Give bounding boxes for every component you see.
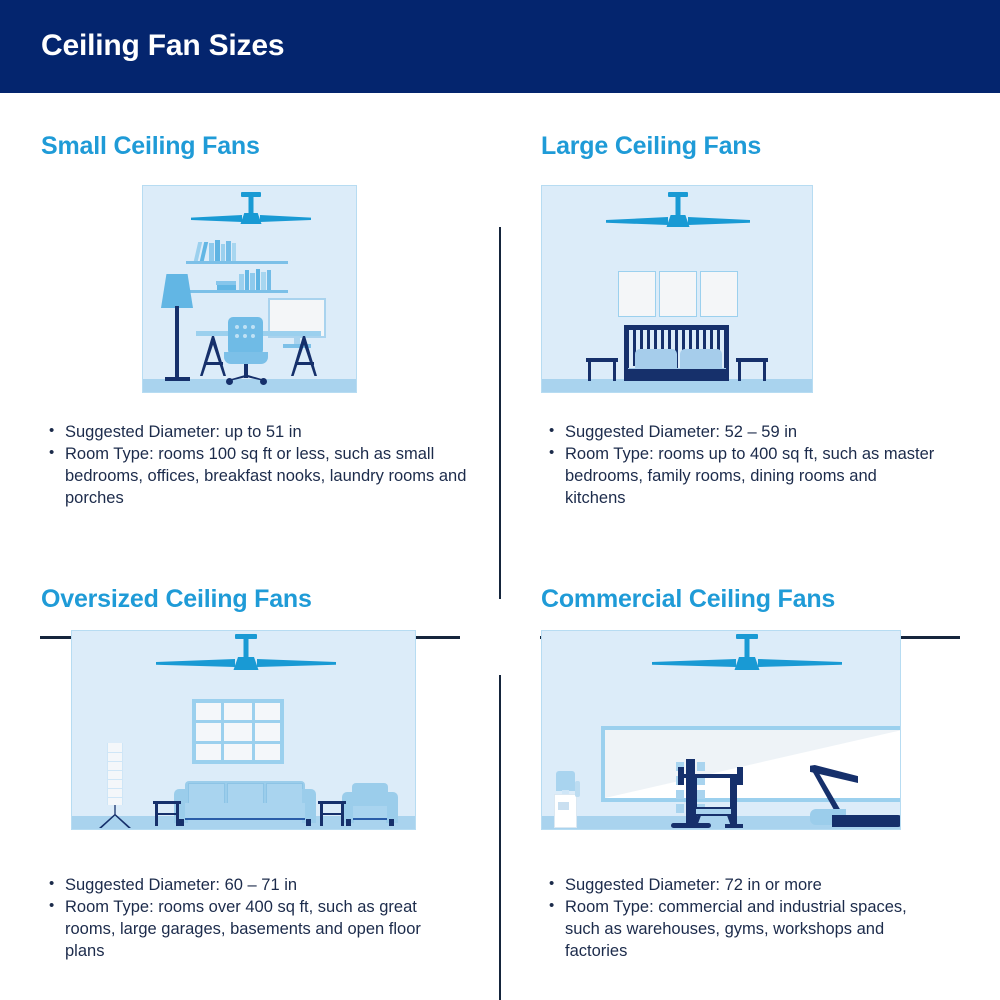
fan-blade-left	[606, 217, 668, 225]
bookshelf-lower	[186, 290, 288, 293]
book	[239, 274, 244, 290]
water-cooler-spout	[575, 781, 580, 797]
window-mullion-vertical	[221, 703, 224, 760]
dumbbell	[697, 790, 705, 799]
chair-back-dot	[235, 334, 239, 338]
book	[245, 270, 249, 290]
fan-blade-right	[260, 215, 311, 222]
book	[215, 240, 220, 261]
tripod-lamp-shade-line	[107, 761, 123, 762]
fan-blade-right	[758, 659, 842, 667]
ceiling-fan-icon	[606, 192, 750, 230]
floor-lamp-shade	[161, 274, 193, 308]
fan-blade-left	[191, 215, 242, 222]
dumbbell	[676, 790, 684, 799]
section-title-large: Large Ceiling Fans	[541, 132, 761, 161]
bullet-list-large: Suggested Diameter: 52 – 59 in Room Type…	[541, 421, 941, 509]
list-item: Suggested Diameter: 72 in or more	[541, 874, 921, 896]
illustration-home-office	[142, 185, 357, 393]
tripod-lamp-shade-line	[107, 797, 123, 798]
side-table-right-leg	[320, 804, 323, 826]
tripod-lamp-shade-line	[107, 752, 123, 753]
book	[221, 244, 225, 261]
chair-back-dot	[243, 334, 247, 338]
side-table-left-leg	[176, 804, 179, 826]
tripod-lamp-shade-line	[107, 788, 123, 789]
chair-back-dot	[251, 325, 255, 329]
illustration-bedroom	[541, 185, 813, 393]
wall-picture-frame	[618, 271, 656, 317]
fan-blade-left	[652, 659, 736, 667]
water-cooler-bottle	[556, 771, 575, 791]
nightstand-right-leg	[763, 362, 766, 381]
chair-wheel	[226, 378, 233, 385]
tripod-lamp-shade-line	[107, 779, 123, 780]
window-mullion-vertical	[252, 703, 255, 760]
sofa-leg	[306, 819, 311, 826]
bed-frame-bottom	[626, 371, 727, 381]
bullet-list-commercial: Suggested Diameter: 72 in or more Room T…	[541, 874, 921, 962]
fan-hub	[234, 657, 259, 670]
book	[267, 270, 271, 290]
armchair-leg	[346, 819, 351, 826]
fan-blade-right	[257, 659, 336, 667]
fan-hub	[241, 213, 262, 224]
ceiling-fan-icon	[652, 634, 842, 674]
floor-lamp-pole	[175, 306, 179, 381]
side-table-right-brace	[320, 813, 344, 815]
sofa-seat	[185, 803, 305, 820]
floor-lamp-base	[165, 377, 190, 381]
tripod-lamp-shade-line	[107, 770, 123, 771]
section-title-commercial: Commercial Ceiling Fans	[541, 585, 835, 614]
illustration-living-room	[71, 630, 416, 830]
chair-seat	[224, 352, 268, 364]
section-small-ceiling-fans: Small Ceiling Fans	[0, 93, 500, 546]
book-stack	[217, 285, 236, 290]
book	[256, 269, 260, 290]
sections-grid: Small Ceiling Fans	[0, 93, 1000, 1000]
nightstand-left-leg	[588, 362, 591, 381]
side-table-left-leg	[155, 804, 158, 826]
water-cooler-tap	[558, 802, 569, 810]
fan-downrod	[244, 639, 249, 659]
window-mullion-horizontal	[196, 741, 280, 744]
armchair-back	[352, 783, 388, 808]
section-oversized-ceiling-fans: Oversized Ceiling Fans	[0, 546, 500, 999]
fan-hub	[667, 215, 690, 227]
dumbbell	[676, 804, 684, 813]
chair-wheel	[260, 378, 267, 385]
fan-hub	[735, 657, 760, 670]
nightstand-left-leg	[613, 362, 616, 381]
book	[232, 243, 236, 261]
bed-headboard-post-right	[724, 325, 729, 373]
fan-blade-left	[156, 659, 235, 667]
bullet-list-small: Suggested Diameter: up to 51 in Room Typ…	[41, 421, 471, 509]
bookshelf-upper	[186, 261, 288, 264]
armchair-leg	[389, 819, 394, 826]
fan-downrod	[249, 197, 254, 215]
wall-picture-frame	[659, 271, 697, 317]
side-table-left-brace	[155, 813, 179, 815]
section-title-small: Small Ceiling Fans	[41, 132, 260, 161]
sofa-leg	[179, 819, 184, 826]
ceiling-fan-icon	[191, 192, 311, 228]
barbell-weight-right	[737, 767, 743, 785]
list-item: Suggested Diameter: 52 – 59 in	[541, 421, 941, 443]
wall-picture-frame	[700, 271, 738, 317]
desk-brace-left	[204, 362, 223, 365]
book	[209, 243, 214, 261]
window-mullion-horizontal	[196, 720, 280, 723]
list-item: Room Type: rooms over 400 sq ft, such as…	[41, 896, 441, 962]
page-header: Ceiling Fan Sizes	[0, 0, 1000, 93]
book	[261, 272, 266, 290]
list-item: Suggested Diameter: up to 51 in	[41, 421, 471, 443]
bed-headboard-post-left	[624, 325, 629, 373]
section-large-ceiling-fans: Large Ceiling Fans	[500, 93, 1000, 546]
nightstand-right-leg	[738, 362, 741, 381]
illustration-gym	[541, 630, 901, 830]
barbell-weight-left	[678, 767, 684, 785]
bench-pad	[694, 807, 733, 816]
fan-blade-right	[688, 217, 750, 225]
page-title: Ceiling Fan Sizes	[41, 29, 284, 63]
desk-leg-sawhorse-left	[200, 336, 226, 376]
section-commercial-ceiling-fans: Commercial Ceiling Fans	[500, 546, 1000, 999]
infographic-page: Ceiling Fan Sizes Small Ceiling Fans	[0, 0, 1000, 1000]
list-item: Suggested Diameter: 60 – 71 in	[41, 874, 441, 896]
bullet-list-oversized: Suggested Diameter: 60 – 71 in Room Type…	[41, 874, 441, 962]
armchair-seat	[353, 806, 387, 820]
section-title-oversized: Oversized Ceiling Fans	[41, 585, 312, 614]
ceiling-fan-icon	[156, 634, 336, 674]
book	[226, 241, 231, 261]
list-item: Room Type: rooms up to 400 sq ft, such a…	[541, 443, 941, 509]
dumbbell	[697, 762, 705, 771]
side-table-right-leg	[341, 804, 344, 826]
chair-back-dot	[243, 325, 247, 329]
list-item: Room Type: commercial and industrial spa…	[541, 896, 921, 962]
chair-back-dot	[235, 325, 239, 329]
book	[250, 273, 255, 290]
list-item: Room Type: rooms 100 sq ft or less, such…	[41, 443, 471, 509]
window-frame	[192, 699, 284, 764]
chair-back-dot	[251, 334, 255, 338]
treadmill-deck	[832, 815, 901, 827]
fan-downrod	[676, 197, 681, 217]
fan-downrod	[745, 639, 750, 659]
desk-brace-right	[295, 362, 314, 365]
water-cooler-body	[554, 794, 577, 828]
